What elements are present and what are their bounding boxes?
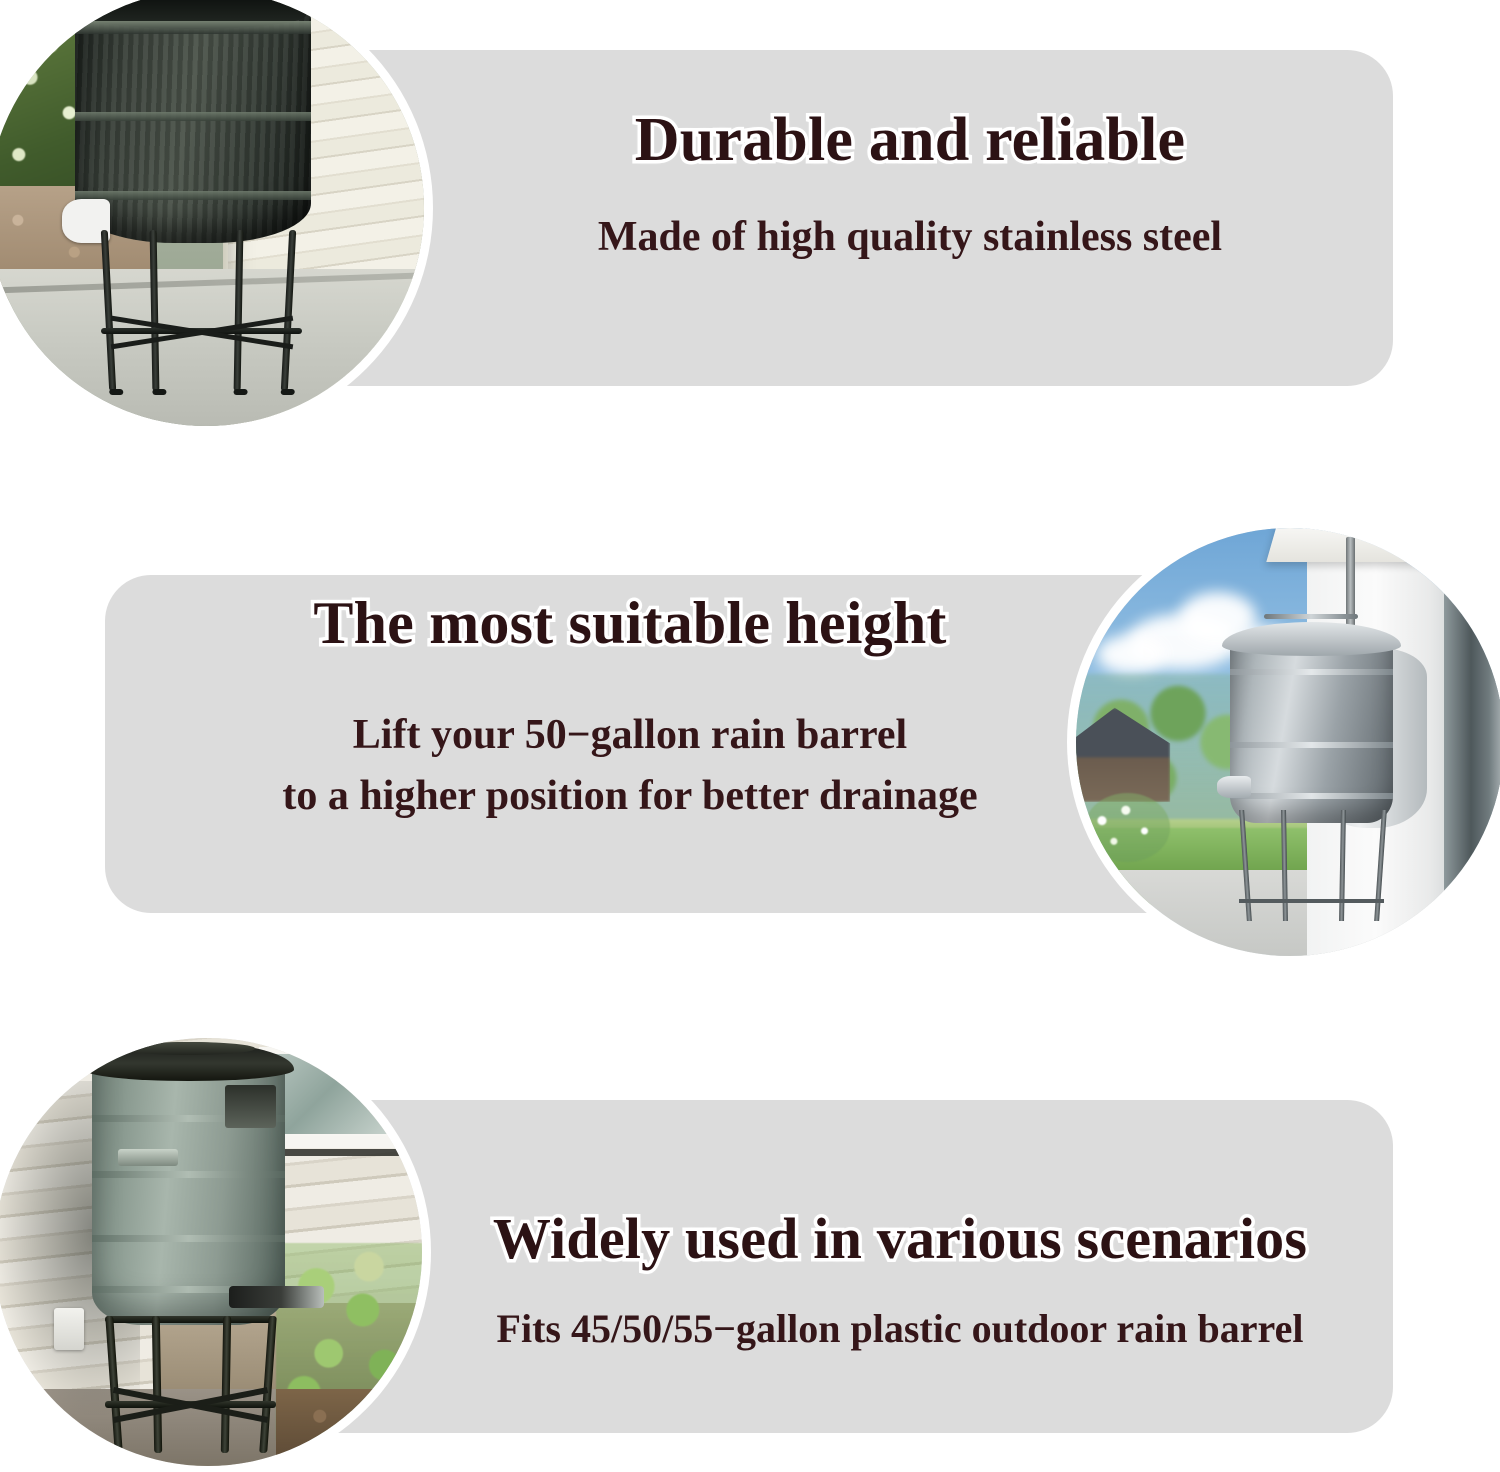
feature-text-durable: Durable and reliable Made of high qualit… [430,108,1390,265]
photo-sage-green-plastic-rain-barrel-on-stand [0,1038,422,1466]
feature-text-scenarios: Widely used in various scenarios Fits 45… [400,1208,1400,1356]
feature-text-height: The most suitable height Lift your 50−ga… [120,592,1140,824]
feature-subtext-scenarios: Fits 45/50/55−gallon plastic outdoor rai… [400,1303,1400,1356]
feature-subtext-durable: Made of high quality stainless steel [430,210,1390,265]
infographic-canvas: Durable and reliable Made of high qualit… [0,0,1500,1472]
feature-headline-durable: Durable and reliable [430,108,1390,174]
feature-subtext-height-line-1: Lift your 50−gallon rain barrel [120,708,1140,763]
feature-headline-height: The most suitable height [120,592,1140,656]
feature-headline-scenarios: Widely used in various scenarios [400,1208,1400,1269]
feature-subtext-height-line-2: to a higher position for better drainage [120,769,1140,824]
photo-wooden-rain-barrel-on-black-metal-stand [0,0,424,426]
